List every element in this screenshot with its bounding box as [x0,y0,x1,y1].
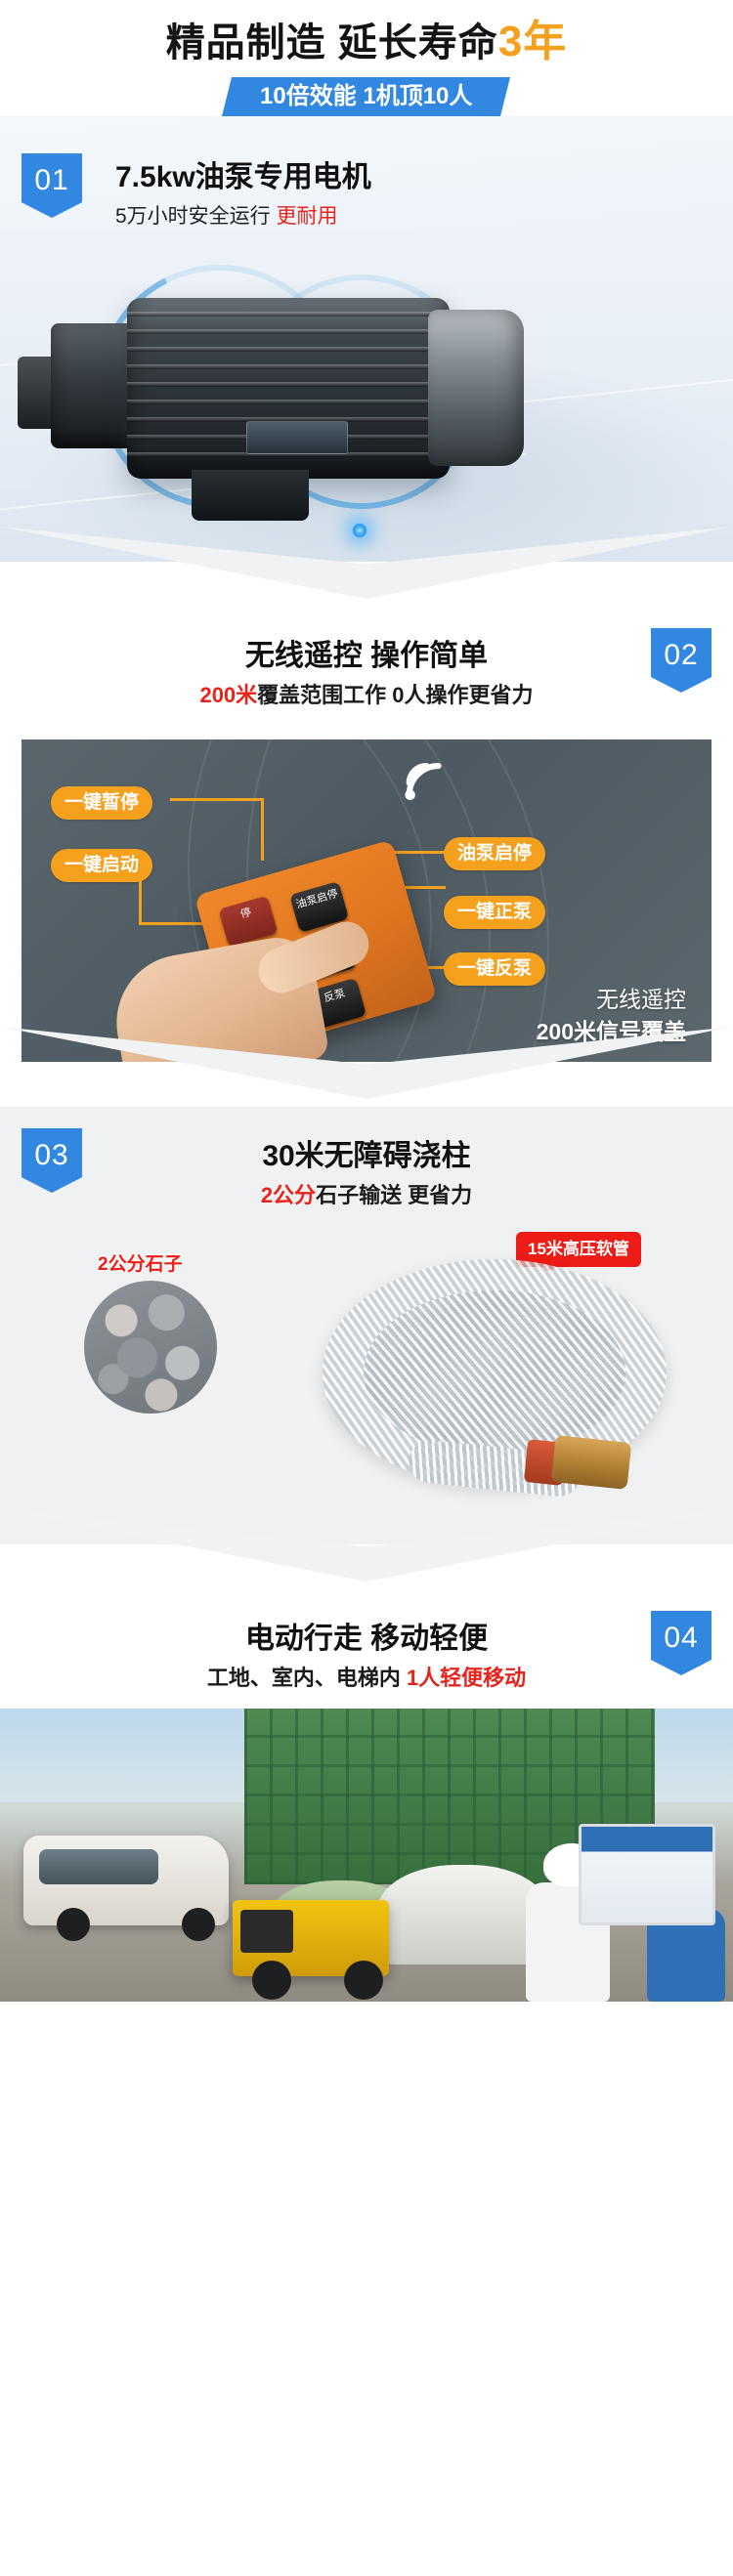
hose-coil-inner [364,1290,625,1455]
section-02-head: 02 无线遥控 操作简单 200米覆盖范围工作 0人操作更省力 [0,607,733,726]
section-02-subtitle-plain: 覆盖范围工作 0人操作更省力 [257,683,533,707]
section-01-text: 7.5kw油泵专用电机 5万小时安全运行 更耐用 [115,157,733,233]
section-01-head: 01 7.5kw油泵专用电机 5万小时安全运行 更耐用 [0,116,733,230]
remote-control-image: 一键暂停 一键启动 油泵启停 一键正泵 一键反泵 停 油泵启停 启动 正泵启停 … [22,739,711,1062]
hose-image: 15米高压软管 2公分石子 [0,1226,733,1519]
motor-nameplate [246,421,348,454]
leader-line [170,798,264,861]
chevron-separator-3 [0,1544,733,1589]
section-04-subtitle-red: 1人轻便移动 [407,1666,526,1690]
section-01-title: 7.5kw油泵专用电机 [115,157,733,198]
section-03-subtitle-plain: 石子输送 更省力 [316,1183,472,1207]
chevron-separator-1 [0,562,733,607]
section-02-title: 无线遥控 操作简单 [0,636,733,677]
page-title: 精品制造 延长寿命3年 [0,16,733,69]
product-detail-page: 精品制造 延长寿命3年 10倍效能 1机顶10人 01 7.5kw油泵专用电机 … [0,0,733,2002]
section-02-caption-line1: 无线遥控 [537,984,686,1016]
motor-front-cap [428,310,524,466]
section-03-subtitle: 2公分石子输送 更省力 [0,1179,733,1212]
section-03-title: 30米无障碍浇柱 [0,1136,733,1177]
section-04-head: 04 电动行走 移动轻便 工地、室内、电梯内 1人轻便移动 [0,1589,733,1709]
section-04-mobility: 04 电动行走 移动轻便 工地、室内、电梯内 1人轻便移动 [0,1589,733,2002]
safety-billboard [579,1824,715,1925]
section-02-remote: 02 无线遥控 操作简单 200米覆盖范围工作 0人操作更省力 一键暂停 [0,607,733,1062]
section-04-subtitle-plain: 工地、室内、电梯内 [207,1666,407,1690]
gravel-photo [84,1281,217,1414]
van-wheel [182,1908,215,1941]
machine-wheel [252,1961,291,2000]
motor-image [0,230,733,562]
chevron-separator-2 [0,1062,733,1107]
hose-coupler-brass [551,1435,632,1490]
white-tarp-cover [377,1865,549,1964]
construction-site-photo [0,1709,733,2002]
hero-ribbon: 10倍效能 1机顶10人 [222,77,510,116]
section-04-subtitle: 工地、室内、电梯内 1人轻便移动 [0,1662,733,1695]
section-01-subtitle-red: 更耐用 [277,205,338,228]
wifi-signal-icon [401,757,455,802]
motor-base-foot [192,470,309,521]
callout-start: 一键启动 [51,849,152,882]
section-01-subtitle: 5万小时安全运行 更耐用 [115,200,733,233]
callout-forward-pump: 一键正泵 [444,896,545,929]
section-03-hose: 03 30米无障碍浇柱 2公分石子输送 更省力 15米高压软管 2公分石子 [0,1107,733,1544]
gravel-size-label: 2公分石子 [98,1249,183,1276]
section-03-head: 03 30米无障碍浇柱 2公分石子输送 更省力 [0,1107,733,1226]
section-01-motor: 01 7.5kw油泵专用电机 5万小时安全运行 更耐用 [0,116,733,562]
page-title-accent: 3年 [498,18,567,65]
hero-header: 精品制造 延长寿命3年 10倍效能 1机顶10人 [0,0,733,116]
page-title-main: 精品制造 延长寿命 [166,21,498,64]
section-03-subtitle-red: 2公分 [261,1183,316,1207]
section-badge-01: 01 [22,153,82,218]
callout-reverse-pump: 一键反泵 [444,952,545,986]
section-02-subtitle-red: 200米 [199,683,257,707]
callout-pause: 一键暂停 [51,786,152,820]
hero-ribbon-label: 10倍效能 1机顶10人 [260,77,472,116]
section-02-subtitle: 200米覆盖范围工作 0人操作更省力 [0,679,733,712]
hero-ribbon-wrap: 10倍效能 1机顶10人 [0,77,733,116]
callout-pump-toggle: 油泵启停 [444,837,545,870]
section-01-subtitle-plain: 5万小时安全运行 [115,205,277,228]
machine-wheel [344,1961,383,2000]
section-04-title: 电动行走 移动轻便 [0,1619,733,1660]
status-led-icon [352,523,367,538]
van-wheel [57,1908,90,1941]
